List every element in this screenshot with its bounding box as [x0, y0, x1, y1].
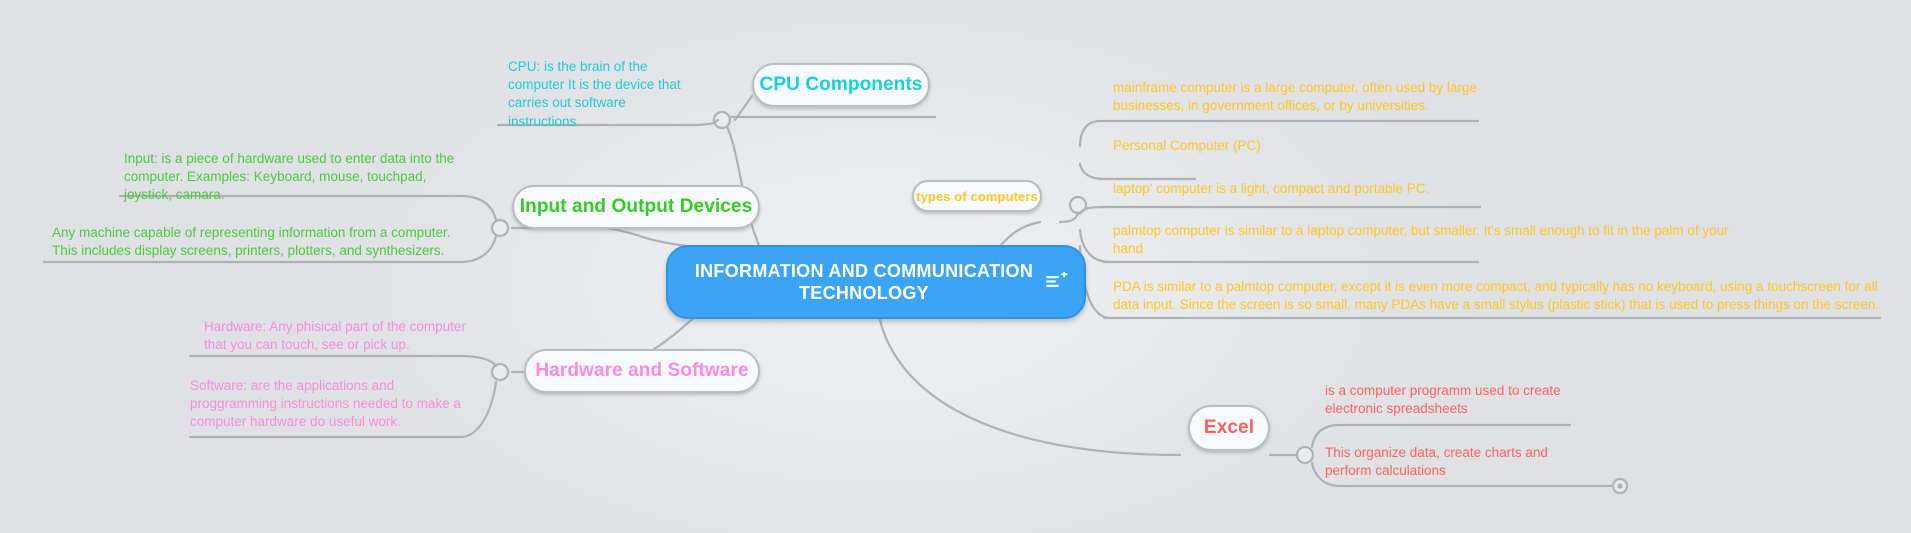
io-hub-dot — [492, 220, 508, 236]
node-cpu-components-label: CPU Components — [760, 74, 923, 96]
leaf-cpu-1[interactable]: CPU: is the brain of the computer It is … — [508, 58, 700, 131]
hw-hub-dot — [492, 364, 508, 380]
types-hub-dot — [1070, 197, 1086, 213]
leaf-types-mainframe[interactable]: mainframe computer is a large computer, … — [1113, 79, 1493, 115]
link-central-types — [1000, 222, 1040, 246]
mindmap-canvas[interactable]: INFORMATION AND COMMUNICATION TECHNOLOGY… — [0, 0, 1911, 533]
leaf-io-2[interactable]: Any machine capable of representing info… — [52, 224, 466, 260]
central-node-title: INFORMATION AND COMMUNICATION TECHNOLOGY — [690, 260, 1038, 305]
leaf-types-pc[interactable]: Personal Computer (PC) — [1113, 137, 1493, 155]
link-types-spine — [1060, 213, 1078, 222]
node-hardware-and-software[interactable]: Hardware and Software — [524, 349, 760, 393]
node-input-output-devices[interactable]: Input and Output Devices — [512, 185, 760, 229]
leaf-hardware-1[interactable]: Hardware: Any phisical part of the compu… — [204, 318, 476, 354]
leaf-types-laptop[interactable]: laptop' computer is a light, compact and… — [1113, 180, 1533, 198]
excel-hub-dot — [1297, 447, 1313, 463]
node-input-output-devices-label: Input and Output Devices — [520, 196, 753, 218]
link-central-excel — [880, 320, 1180, 455]
link-cpu-hub-stub — [735, 96, 752, 120]
leaf-types-palmtop[interactable]: palmtop computer is similar to a laptop … — [1113, 222, 1733, 258]
node-cpu-components[interactable]: CPU Components — [752, 63, 930, 107]
link-types-leaf-3a — [1080, 207, 1105, 214]
leaf-excel-2[interactable]: This organize data, create charts and pe… — [1325, 444, 1595, 480]
leaf-types-pda[interactable]: PDA is similar to a palmtop computer, ex… — [1113, 278, 1903, 314]
central-node[interactable]: INFORMATION AND COMMUNICATION TECHNOLOGY — [666, 245, 1086, 319]
link-types-leaf-4a — [1080, 230, 1110, 262]
node-excel[interactable]: Excel — [1188, 405, 1270, 451]
link-hw-leaf-1 — [190, 356, 496, 366]
leaf-io-1[interactable]: Input: is a piece of hardware used to en… — [124, 150, 466, 205]
link-types-leaf-2a — [1080, 164, 1105, 179]
node-hardware-and-software-label: Hardware and Software — [535, 360, 748, 382]
node-types-of-computers-label: types of computers — [916, 189, 1038, 204]
node-excel-label: Excel — [1204, 417, 1254, 439]
node-types-of-computers[interactable]: types of computers — [912, 180, 1042, 212]
leaf-software-2[interactable]: Software: are the applications and progg… — [190, 377, 480, 432]
cpu-hub-dot — [714, 112, 730, 128]
notes-add-icon[interactable] — [1046, 272, 1068, 292]
excel-end-dot — [1613, 479, 1627, 493]
excel-end-dot-core — [1617, 483, 1622, 488]
leaf-excel-1[interactable]: is a computer programm used to create el… — [1325, 382, 1577, 418]
